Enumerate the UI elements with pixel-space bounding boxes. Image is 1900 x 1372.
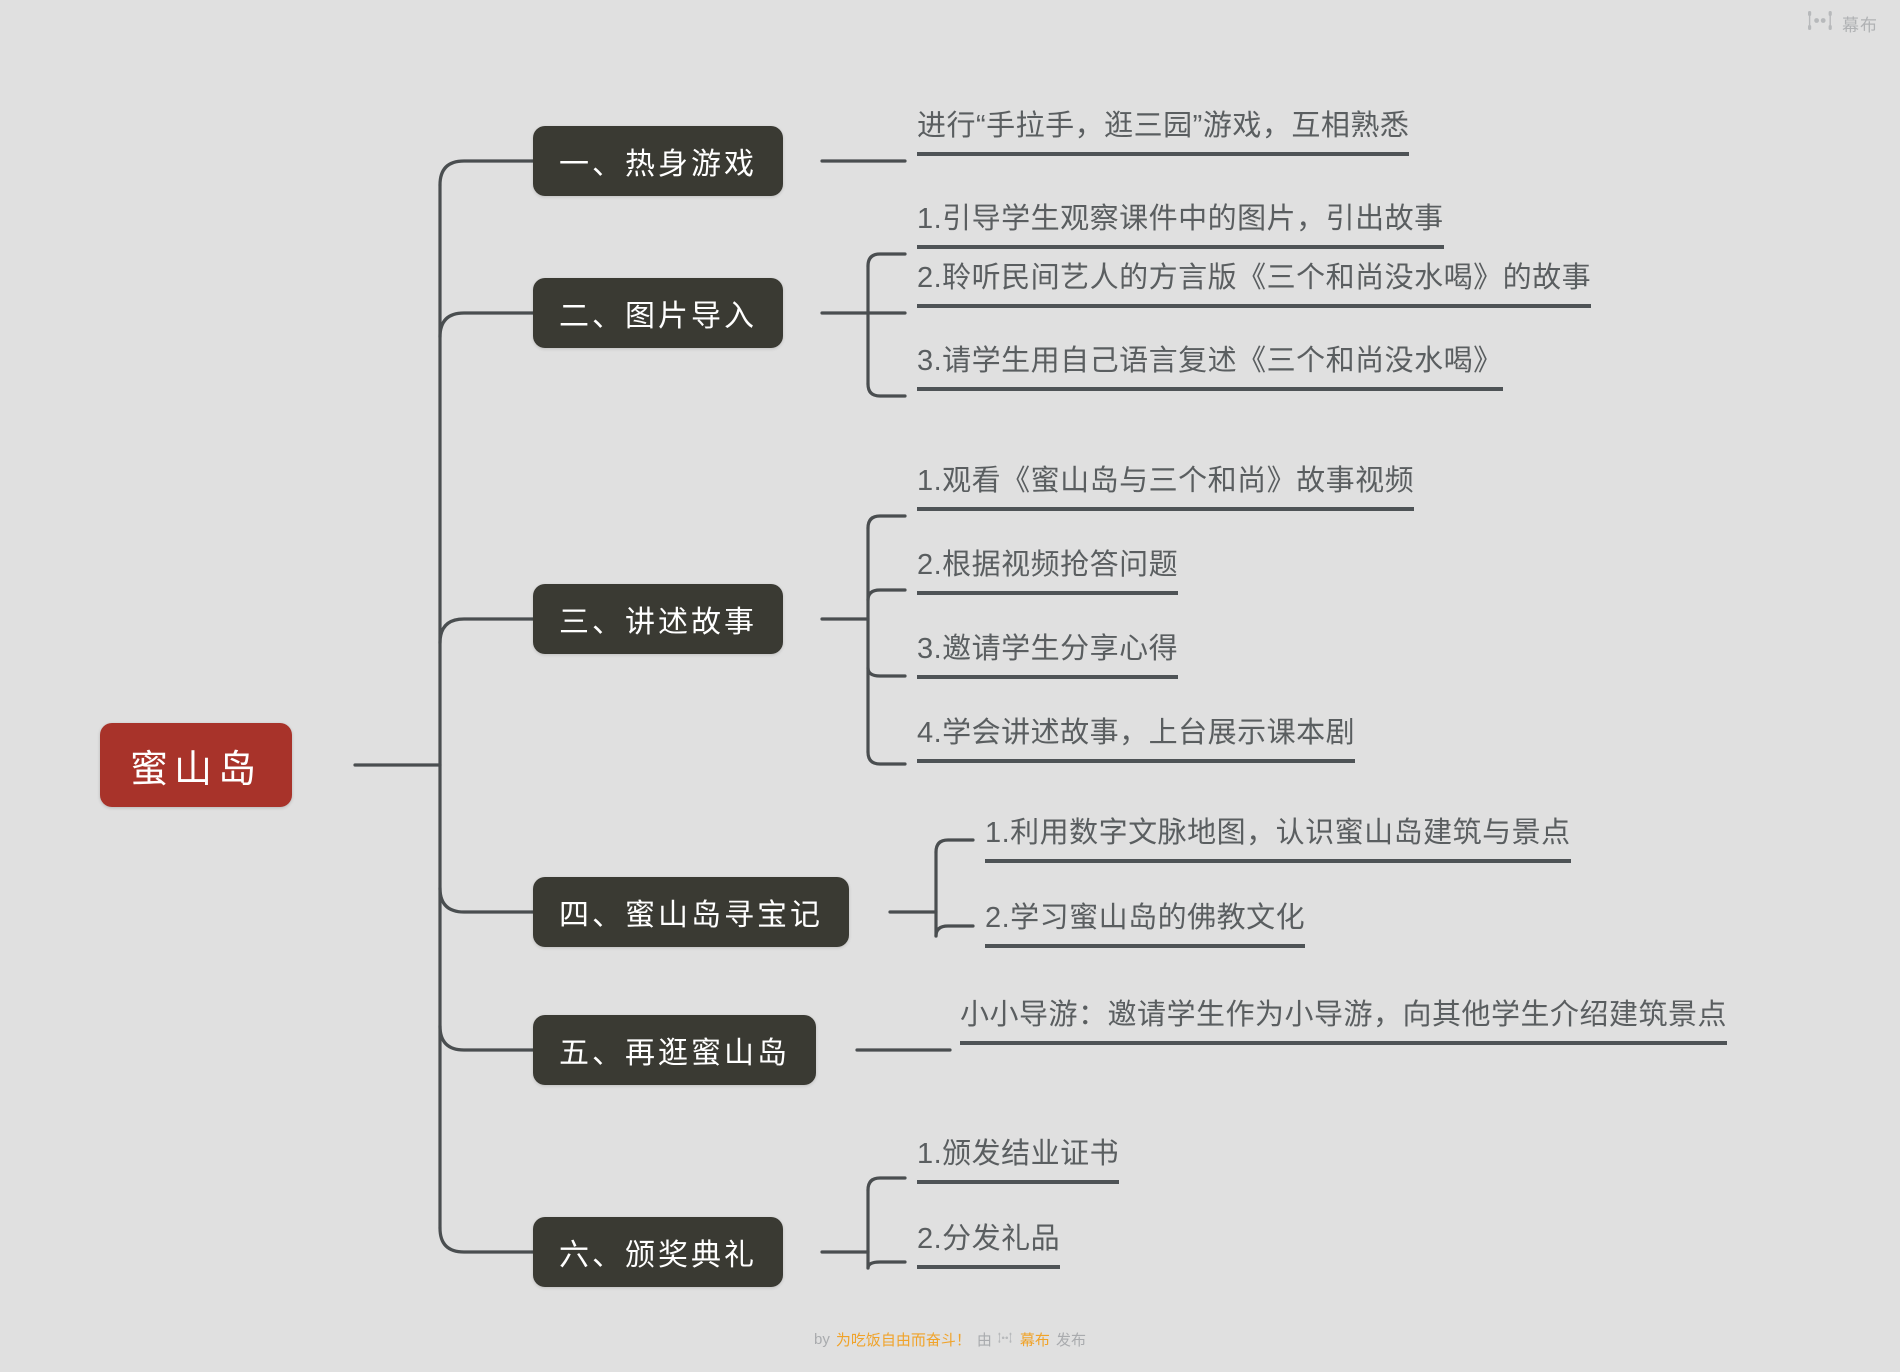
leaf-node-4-2[interactable]: 2.学习蜜山岛的佛教文化 (985, 903, 1305, 948)
footer-suffix: 发布 (1056, 1329, 1086, 1350)
leaf-node-6-1[interactable]: 1.颁发结业证书 (917, 1139, 1119, 1184)
edge-branch-3-leaf-4 (868, 752, 905, 764)
edge-branch-2-leaf-3 (868, 384, 905, 396)
root-node-label: 蜜山岛 (130, 738, 262, 793)
branch-node-2-label: 二、图片导入 (559, 291, 757, 335)
edge-branch-3-leaf-2 (868, 590, 905, 600)
footer-brand[interactable]: 幕布 (1020, 1329, 1050, 1350)
branch-node-5-label: 五、再逛蜜山岛 (559, 1028, 790, 1072)
leaf-node-2-1[interactable]: 1.引导学生观察课件中的图片，引出故事 (917, 204, 1444, 249)
leaf-node-2-2[interactable]: 2.聆听民间艺人的方言版《三个和尚没水喝》的故事 (917, 263, 1591, 308)
edge-trunk-branch-6 (440, 1228, 533, 1252)
edge-trunk-branch-5 (440, 1026, 533, 1050)
root-node[interactable]: 蜜山岛 (100, 723, 292, 807)
leaf-node-5-1[interactable]: 小小导游：邀请学生作为小导游，向其他学生介绍建筑景点 (960, 1000, 1727, 1045)
branch-node-3[interactable]: 三、讲述故事 (533, 584, 783, 654)
branch-node-4[interactable]: 四、蜜山岛寻宝记 (533, 877, 849, 947)
edge-branch-6-leaf-2 (868, 1262, 905, 1268)
branch-node-4-label: 四、蜜山岛寻宝记 (559, 890, 823, 934)
leaf-node-3-2[interactable]: 2.根据视频抢答问题 (917, 550, 1178, 595)
branch-node-5[interactable]: 五、再逛蜜山岛 (533, 1015, 816, 1085)
edge-trunk-branch-3 (440, 619, 533, 643)
leaf-node-3-3[interactable]: 3.邀请学生分享心得 (917, 634, 1178, 679)
edge-branch-3-leaf-3 (868, 668, 905, 676)
footer-by-prefix: by (814, 1331, 830, 1348)
leaf-node-2-3[interactable]: 3.请学生用自己语言复述《三个和尚没水喝》 (917, 346, 1503, 391)
brand-mark: 幕布 (1807, 10, 1878, 37)
branch-node-3-label: 三、讲述故事 (559, 597, 757, 641)
edge-branch-4-leaf-2 (936, 926, 973, 936)
edge-branch-4-leaf-1 (936, 840, 973, 852)
edge-branch-3-leaf-1 (868, 516, 905, 528)
footer: by 为吃饭自由而奋斗！ 由 幕布 发布 (0, 1329, 1900, 1350)
edge-branch-6-leaf-1 (868, 1178, 905, 1190)
brand-name: 幕布 (1842, 11, 1878, 36)
edge-trunk-branch-1 (440, 161, 533, 185)
leaf-node-4-1[interactable]: 1.利用数字文脉地图，认识蜜山岛建筑与景点 (985, 818, 1571, 863)
branch-node-1[interactable]: 一、热身游戏 (533, 126, 783, 196)
edge-branch-2-leaf-1 (868, 254, 905, 266)
branch-node-1-label: 一、热身游戏 (559, 139, 757, 183)
mubu-logo-icon-small (998, 1331, 1012, 1348)
edge-trunk-branch-2 (440, 313, 533, 337)
mubu-logo-icon (1807, 10, 1833, 37)
footer-author: 为吃饭自由而奋斗！ (836, 1329, 971, 1350)
footer-middle: 由 (977, 1329, 992, 1350)
leaf-node-1-1[interactable]: 进行“手拉手，逛三园”游戏，互相熟悉 (917, 111, 1409, 156)
branch-node-6[interactable]: 六、颁奖典礼 (533, 1217, 783, 1287)
leaf-node-3-1[interactable]: 1.观看《蜜山岛与三个和尚》故事视频 (917, 466, 1414, 511)
branch-node-2[interactable]: 二、图片导入 (533, 278, 783, 348)
branch-node-6-label: 六、颁奖典礼 (559, 1230, 757, 1274)
edge-trunk-branch-4 (440, 888, 533, 912)
leaf-node-6-2[interactable]: 2.分发礼品 (917, 1224, 1060, 1269)
leaf-node-3-4[interactable]: 4.学会讲述故事，上台展示课本剧 (917, 718, 1355, 763)
